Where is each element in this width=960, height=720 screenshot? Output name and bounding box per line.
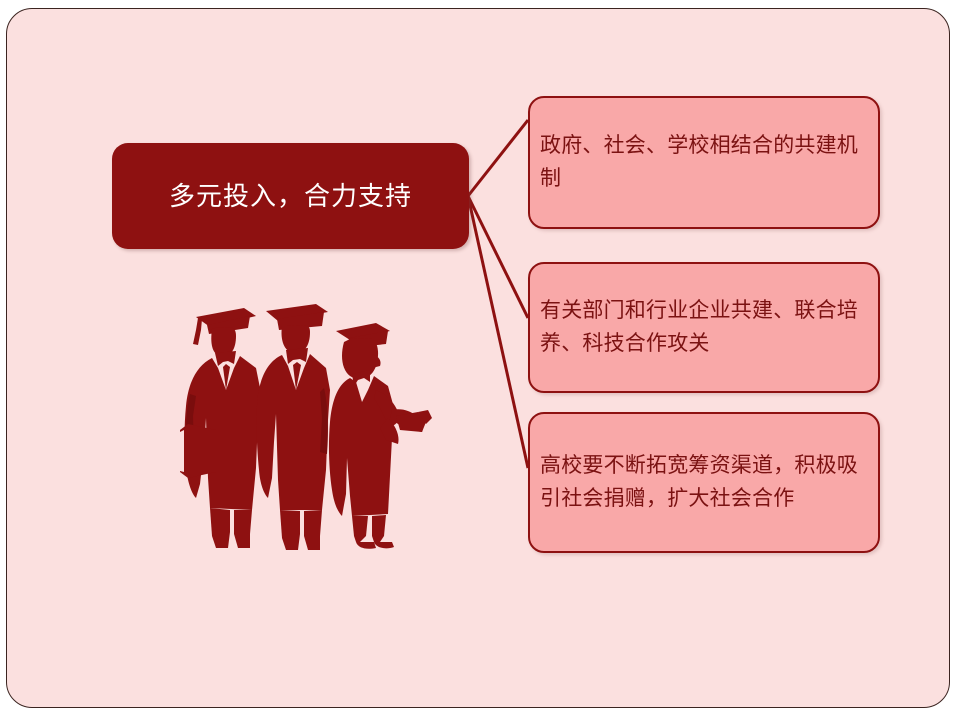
detail-box-2-text: 有关部门和行业企业共建、联合培养、科技合作攻关 bbox=[540, 295, 866, 360]
detail-box-2[interactable]: 有关部门和行业企业共建、联合培养、科技合作攻关 bbox=[528, 262, 880, 393]
graduate-figure-middle bbox=[257, 304, 330, 550]
main-topic-box[interactable]: 多元投入，合力支持 bbox=[112, 143, 469, 249]
graduates-figures bbox=[180, 304, 432, 550]
graduate-figure-right bbox=[329, 323, 432, 549]
detail-box-1[interactable]: 政府、社会、学校相结合的共建机制 bbox=[528, 96, 880, 229]
detail-box-3[interactable]: 高校要不断拓宽筹资渠道，积极吸引社会捐赠，扩大社会合作 bbox=[528, 412, 880, 553]
main-topic-label: 多元投入，合力支持 bbox=[169, 180, 412, 213]
detail-box-1-text: 政府、社会、学校相结合的共建机制 bbox=[540, 130, 866, 195]
detail-box-3-text: 高校要不断拓宽筹资渠道，积极吸引社会捐赠，扩大社会合作 bbox=[540, 450, 866, 515]
slide-canvas: 多元投入，合力支持 政府、社会、学校相结合的共建机制 有关部门和行业企业共建、联… bbox=[0, 0, 960, 720]
graduate-figure-left bbox=[180, 308, 260, 548]
graduates-silhouette-illustration bbox=[160, 298, 445, 553]
